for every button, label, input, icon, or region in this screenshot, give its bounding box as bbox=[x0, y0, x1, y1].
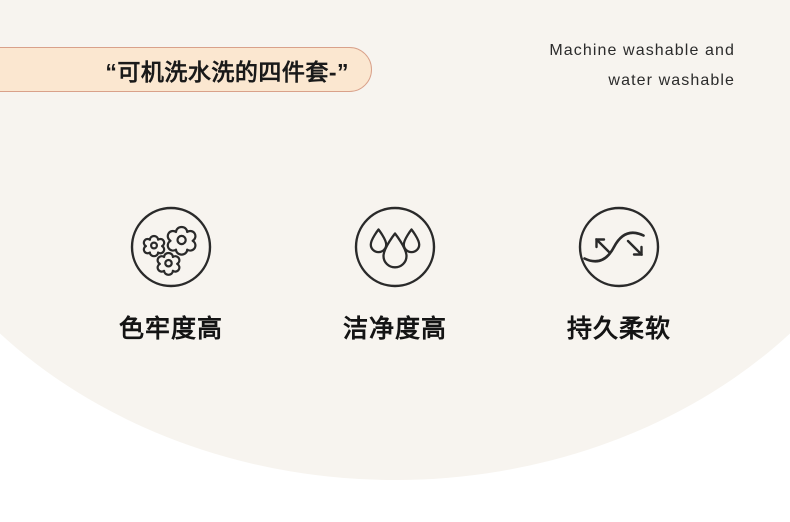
water-drops-icon bbox=[353, 205, 437, 289]
subheadline: Machine washable and water washable bbox=[549, 36, 735, 96]
flowers-icon bbox=[129, 205, 213, 289]
feature-label-color-fastness: 色牢度高 bbox=[119, 309, 223, 345]
feature-list: 色牢度高 洁净度高 bbox=[0, 205, 790, 345]
headline-badge: “可机洗水洗的四件套-” bbox=[0, 47, 372, 92]
feature-label-softness: 持久柔软 bbox=[567, 309, 671, 345]
promo-banner: “可机洗水洗的四件套-” Machine washable and water … bbox=[0, 0, 790, 522]
headline-badge-label: “可机洗水洗的四件套-” bbox=[105, 53, 349, 87]
feature-item-cleanliness: 洁净度高 bbox=[283, 205, 507, 345]
feature-item-color-fastness: 色牢度高 bbox=[59, 205, 283, 345]
subheadline-line-2: water washable bbox=[549, 66, 735, 96]
feature-label-cleanliness: 洁净度高 bbox=[343, 309, 447, 345]
feature-item-softness: 持久柔软 bbox=[507, 205, 731, 345]
softness-wave-arrows-icon bbox=[577, 205, 661, 289]
subheadline-line-1: Machine washable and bbox=[549, 36, 735, 66]
